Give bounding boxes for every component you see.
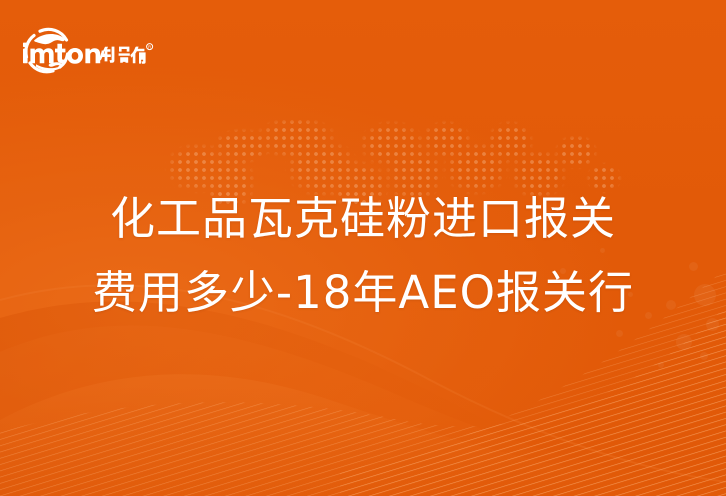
title-line-2: 费用多少-18年AEO报关行 xyxy=(0,256,726,330)
brand-logo[interactable]: R xyxy=(20,24,170,76)
globe-logo-icon: R xyxy=(20,24,170,76)
page-title: 化工品瓦克硅粉进口报关 费用多少-18年AEO报关行 xyxy=(0,182,726,330)
title-line-1: 化工品瓦克硅粉进口报关 xyxy=(0,182,726,256)
svg-text:R: R xyxy=(148,44,151,49)
promo-banner: R 化工品瓦克硅粉进口报关 费用多少-18年AEO报关行 xyxy=(0,0,726,496)
